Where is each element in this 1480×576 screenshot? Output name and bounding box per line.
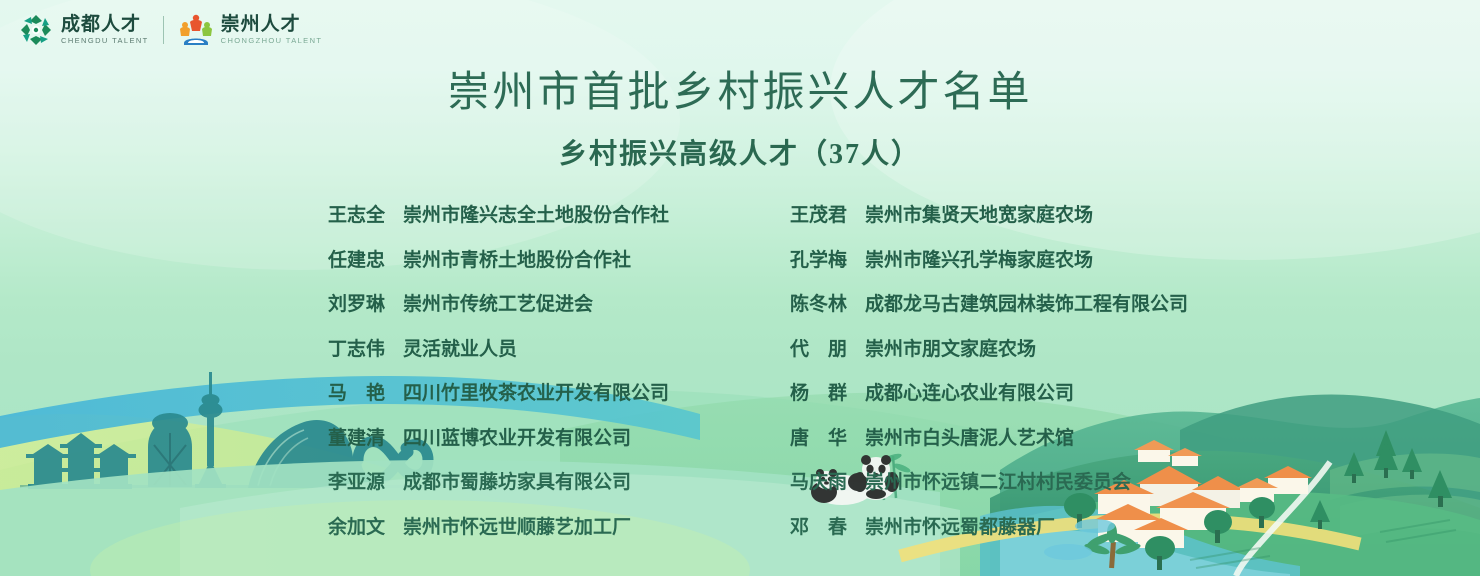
- list-item: 丁志伟 灵活就业人员: [328, 334, 790, 361]
- person-name: 王茂君: [790, 200, 847, 227]
- list-row: 任建忠 崇州市青桥土地股份合作社 孔学梅 崇州市隆兴孔学梅家庭农场: [0, 245, 1480, 290]
- list-item: 孔学梅 崇州市隆兴孔学梅家庭农场: [790, 245, 1093, 272]
- page-subtitle: 乡村振兴高级人才（37人）: [0, 132, 1480, 172]
- person-org: 崇州市怀远世顺藤艺加工厂: [403, 512, 631, 539]
- person-name: 王志全: [328, 200, 385, 227]
- logo-chongzhou-cn: 崇州人才: [221, 15, 323, 34]
- person-org: 四川蓝博农业开发有限公司: [403, 423, 631, 450]
- list-item: 杨 群 成都心连心农业有限公司: [790, 378, 1074, 405]
- person-org: 崇州市隆兴孔学梅家庭农场: [865, 245, 1093, 272]
- person-name: 李亚源: [328, 467, 385, 494]
- person-org: 崇州市隆兴志全土地股份合作社: [403, 200, 669, 227]
- person-org: 崇州市传统工艺促进会: [403, 289, 593, 316]
- list-item: 任建忠 崇州市青桥土地股份合作社: [328, 245, 790, 272]
- list-item: 董建清 四川蓝博农业开发有限公司: [328, 423, 790, 450]
- person-org: 四川竹里牧茶农业开发有限公司: [403, 378, 669, 405]
- list-row: 刘罗琳 崇州市传统工艺促进会 陈冬林 成都龙马古建筑园林装饰工程有限公司: [0, 289, 1480, 334]
- person-name: 唐 华: [790, 423, 847, 450]
- person-org: 成都市蜀藤坊家具有限公司: [403, 467, 631, 494]
- list-item: 代 朋 崇州市朋文家庭农场: [790, 334, 1036, 361]
- person-org: 崇州市怀远镇二江村村民委员会: [865, 467, 1131, 494]
- logo-chongzhou-talent[interactable]: 崇州人才 CHONGZHOU TALENT: [178, 12, 323, 48]
- list-item: 马庆雨 崇州市怀远镇二江村村民委员会: [790, 467, 1131, 494]
- list-row: 王志全 崇州市隆兴志全土地股份合作社 王茂君 崇州市集贤天地宽家庭农场: [0, 200, 1480, 245]
- person-name: 任建忠: [328, 245, 385, 272]
- person-org: 崇州市白头唐泥人艺术馆: [865, 423, 1074, 450]
- list-item: 刘罗琳 崇州市传统工艺促进会: [328, 289, 790, 316]
- list-item: 马 艳 四川竹里牧茶农业开发有限公司: [328, 378, 790, 405]
- list-item: 唐 华 崇州市白头唐泥人艺术馆: [790, 423, 1074, 450]
- logo-chengdu-en: CHENGDU TALENT: [61, 37, 149, 45]
- talent-list: 王志全 崇州市隆兴志全土地股份合作社 王茂君 崇州市集贤天地宽家庭农场 任建忠 …: [0, 200, 1480, 556]
- person-name: 丁志伟: [328, 334, 385, 361]
- list-item: 邓 春 崇州市怀远蜀都藤器厂: [790, 512, 1055, 539]
- person-name: 杨 群: [790, 378, 847, 405]
- logo-chengdu-talent[interactable]: 成都人才 CHENGDU TALENT: [18, 12, 149, 48]
- person-name: 陈冬林: [790, 289, 847, 316]
- chongzhou-talent-mark: [178, 12, 214, 48]
- person-name: 马 艳: [328, 378, 385, 405]
- chengdu-talent-mark: [18, 12, 54, 48]
- list-item: 余加文 崇州市怀远世顺藤艺加工厂: [328, 512, 790, 539]
- list-row: 余加文 崇州市怀远世顺藤艺加工厂 邓 春 崇州市怀远蜀都藤器厂: [0, 512, 1480, 557]
- person-org: 成都心连心农业有限公司: [865, 378, 1074, 405]
- list-item: 王茂君 崇州市集贤天地宽家庭农场: [790, 200, 1093, 227]
- list-item: 李亚源 成都市蜀藤坊家具有限公司: [328, 467, 790, 494]
- list-row: 丁志伟 灵活就业人员 代 朋 崇州市朋文家庭农场: [0, 334, 1480, 379]
- person-name: 代 朋: [790, 334, 847, 361]
- person-org: 成都龙马古建筑园林装饰工程有限公司: [865, 289, 1188, 316]
- logo-divider: [163, 16, 164, 44]
- list-row: 董建清 四川蓝博农业开发有限公司 唐 华 崇州市白头唐泥人艺术馆: [0, 423, 1480, 468]
- person-org: 崇州市朋文家庭农场: [865, 334, 1036, 361]
- person-name: 马庆雨: [790, 467, 847, 494]
- person-name: 孔学梅: [790, 245, 847, 272]
- person-org: 崇州市怀远蜀都藤器厂: [865, 512, 1055, 539]
- person-name: 余加文: [328, 512, 385, 539]
- poster-root: 成都人才 CHENGDU TALENT 崇州人才: [0, 0, 1480, 576]
- list-item: 陈冬林 成都龙马古建筑园林装饰工程有限公司: [790, 289, 1188, 316]
- logo-bar: 成都人才 CHENGDU TALENT 崇州人才: [18, 8, 322, 52]
- person-name: 邓 春: [790, 512, 847, 539]
- person-name: 刘罗琳: [328, 289, 385, 316]
- page-title: 崇州市首批乡村振兴人才名单: [0, 58, 1480, 119]
- logo-chongzhou-en: CHONGZHOU TALENT: [221, 37, 323, 45]
- logo-chengdu-cn: 成都人才: [61, 15, 149, 34]
- person-org: 崇州市青桥土地股份合作社: [403, 245, 631, 272]
- person-org: 崇州市集贤天地宽家庭农场: [865, 200, 1093, 227]
- person-org: 灵活就业人员: [403, 334, 517, 361]
- list-row: 李亚源 成都市蜀藤坊家具有限公司 马庆雨 崇州市怀远镇二江村村民委员会: [0, 467, 1480, 512]
- list-item: 王志全 崇州市隆兴志全土地股份合作社: [328, 200, 790, 227]
- list-row: 马 艳 四川竹里牧茶农业开发有限公司 杨 群 成都心连心农业有限公司: [0, 378, 1480, 423]
- person-name: 董建清: [328, 423, 385, 450]
